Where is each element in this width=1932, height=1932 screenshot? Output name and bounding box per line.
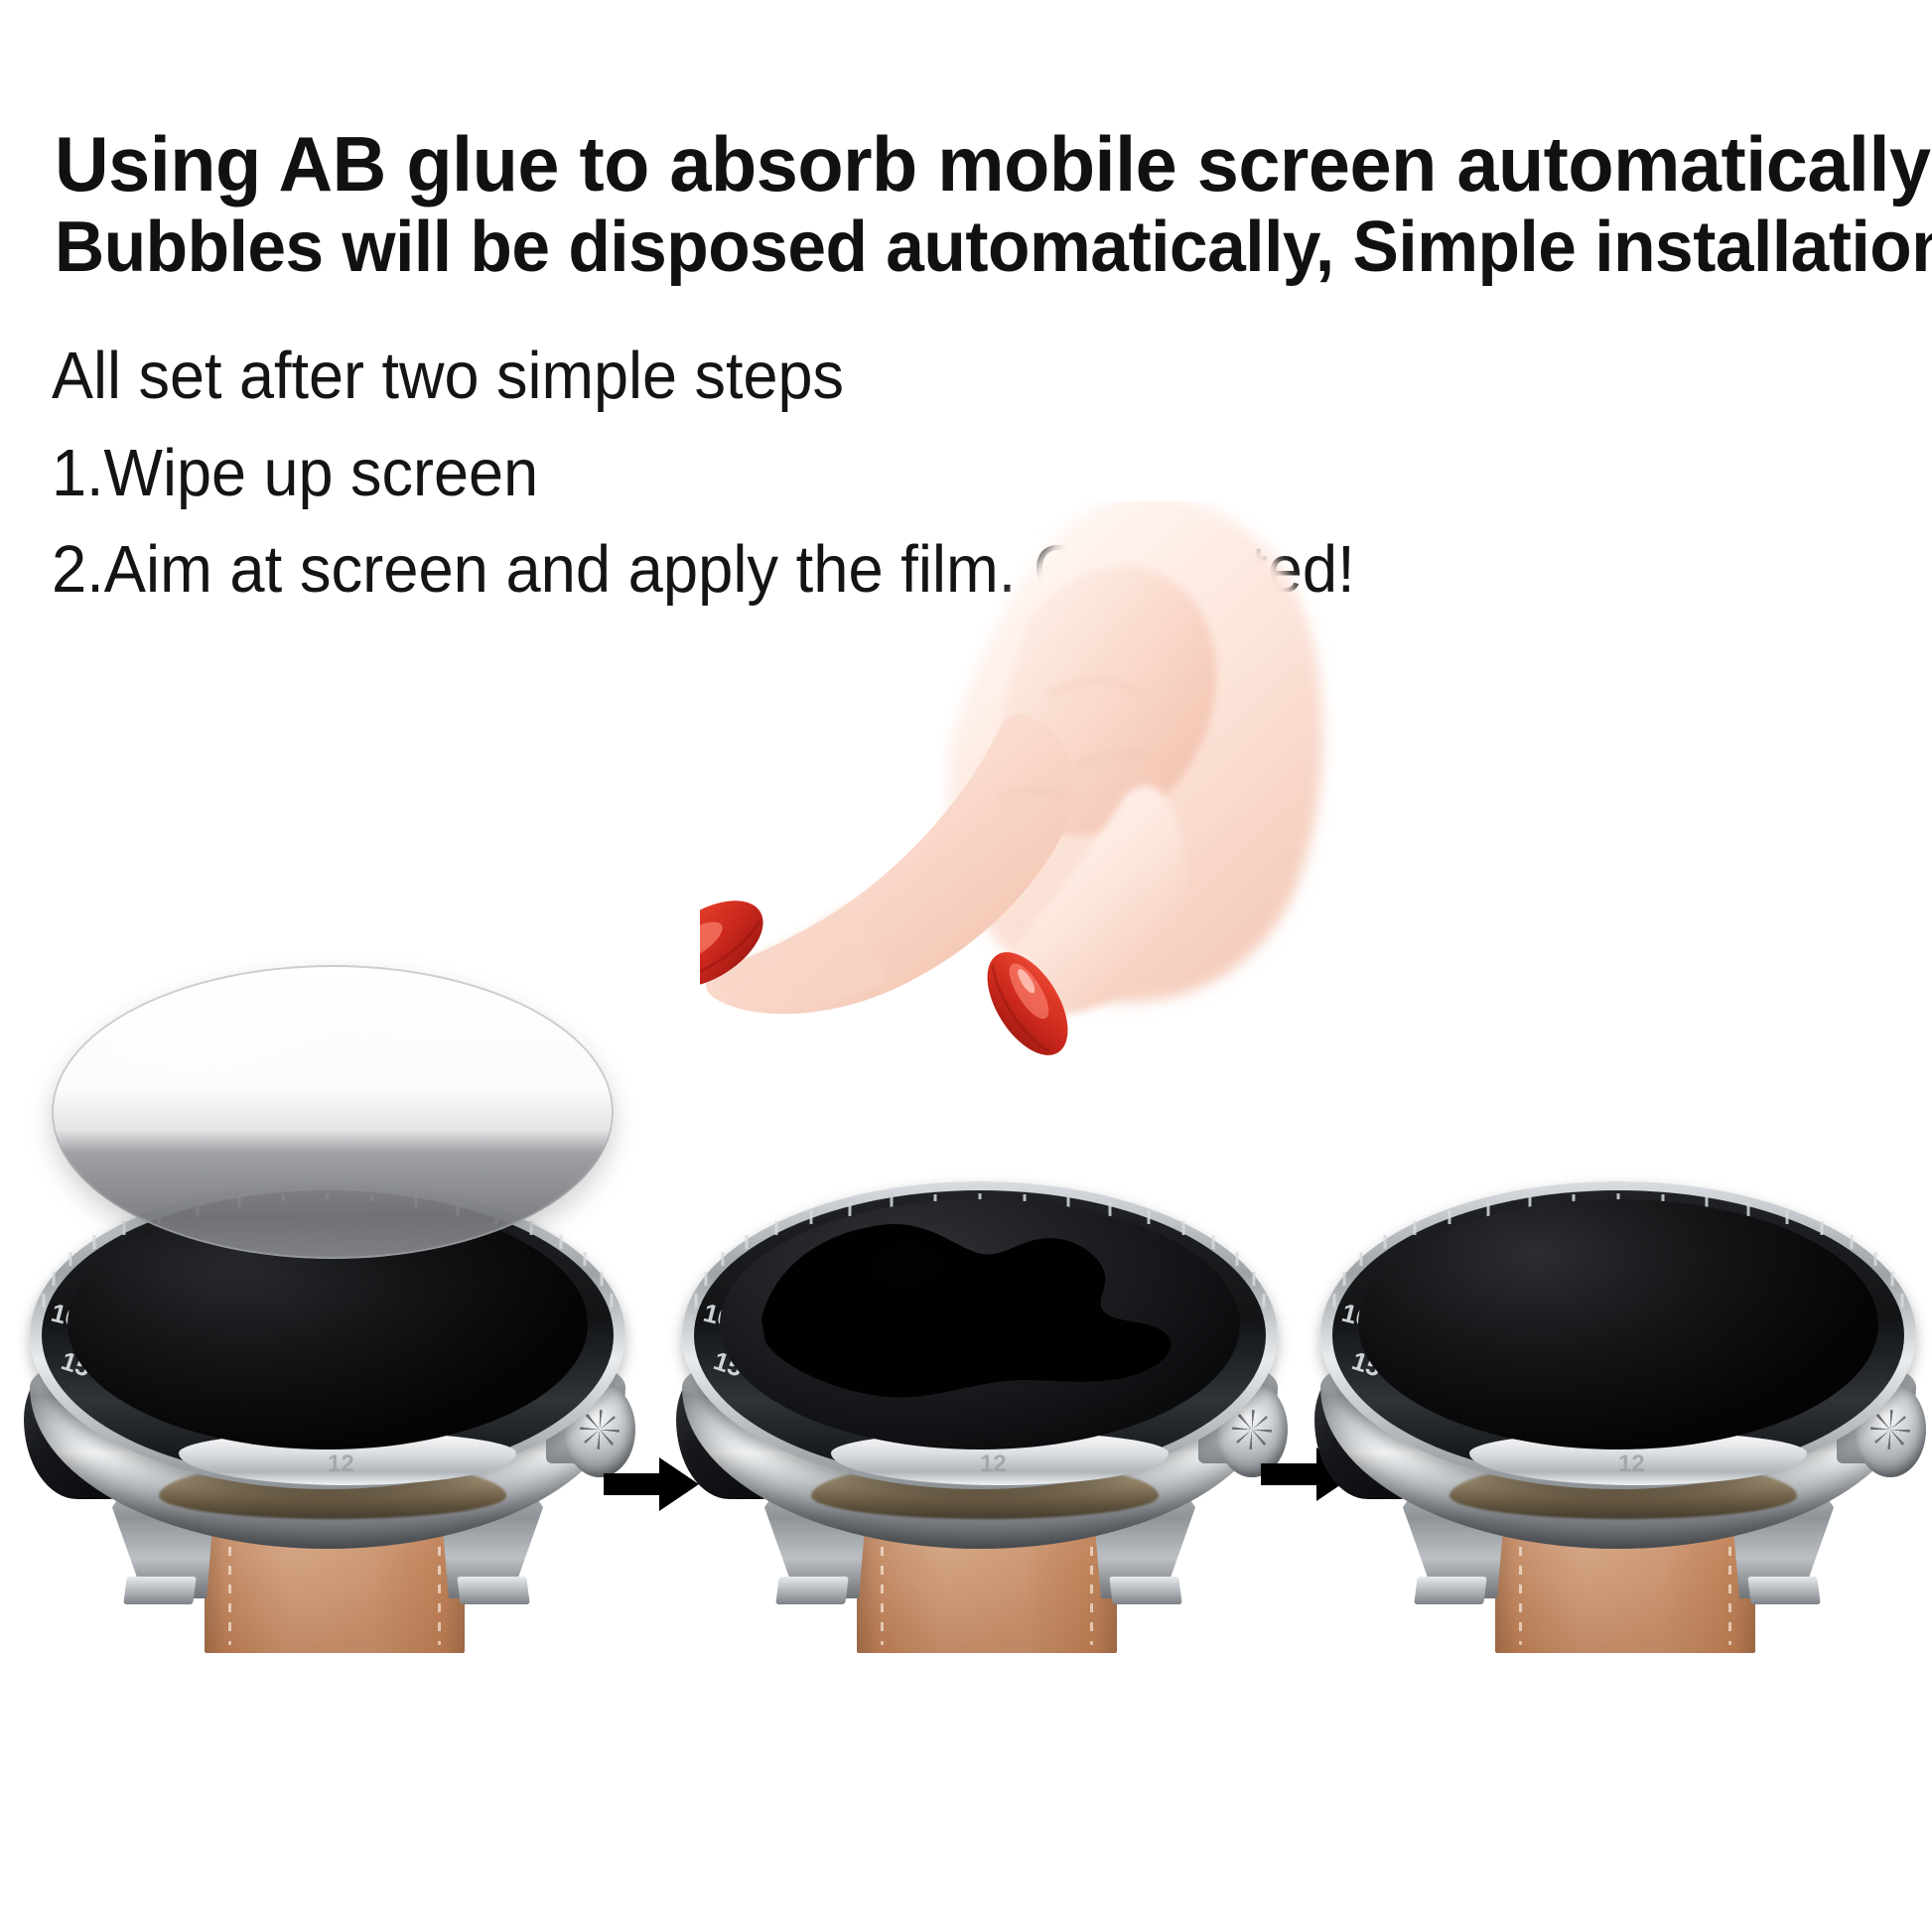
film-edge [52,965,614,1259]
watch-lug-tip-right [457,1577,529,1604]
headline-line-2: Bubbles will be disposed automatically, … [55,207,1932,288]
instructions-step-2: 2.Aim at screen and apply the film. Comp… [52,531,1355,608]
watch-lug-tip-left [123,1577,196,1604]
svg-text:12: 12 [328,1450,354,1477]
headline-line-1: Using AB glue to absorb mobile screen au… [55,119,1931,209]
svg-text:12: 12 [1618,1450,1645,1477]
watch-step-2: 10 16 15 14 12 [662,1033,1298,1688]
watch-step-1: 10 16 15 14 12 [10,1033,645,1688]
watch-lug-tip-left [1414,1577,1486,1604]
watch-step-3: 10 16 15 14 12 [1301,1033,1932,1688]
screen-protector-film[interactable] [52,965,614,1259]
watch-lug-tip-right [1747,1577,1820,1604]
instructions-step-1: 1.Wipe up screen [52,435,538,511]
instructions-intro: All set after two simple steps [52,338,844,414]
watch-lug-tip-right [1109,1577,1181,1604]
svg-text:12: 12 [980,1450,1007,1477]
installation-illustration: 10 16 15 14 12 [0,635,1932,1932]
glue-bubble-blob [754,1207,1190,1416]
watch-screen[interactable] [1358,1199,1878,1449]
watch-lug-tip-left [775,1577,848,1604]
